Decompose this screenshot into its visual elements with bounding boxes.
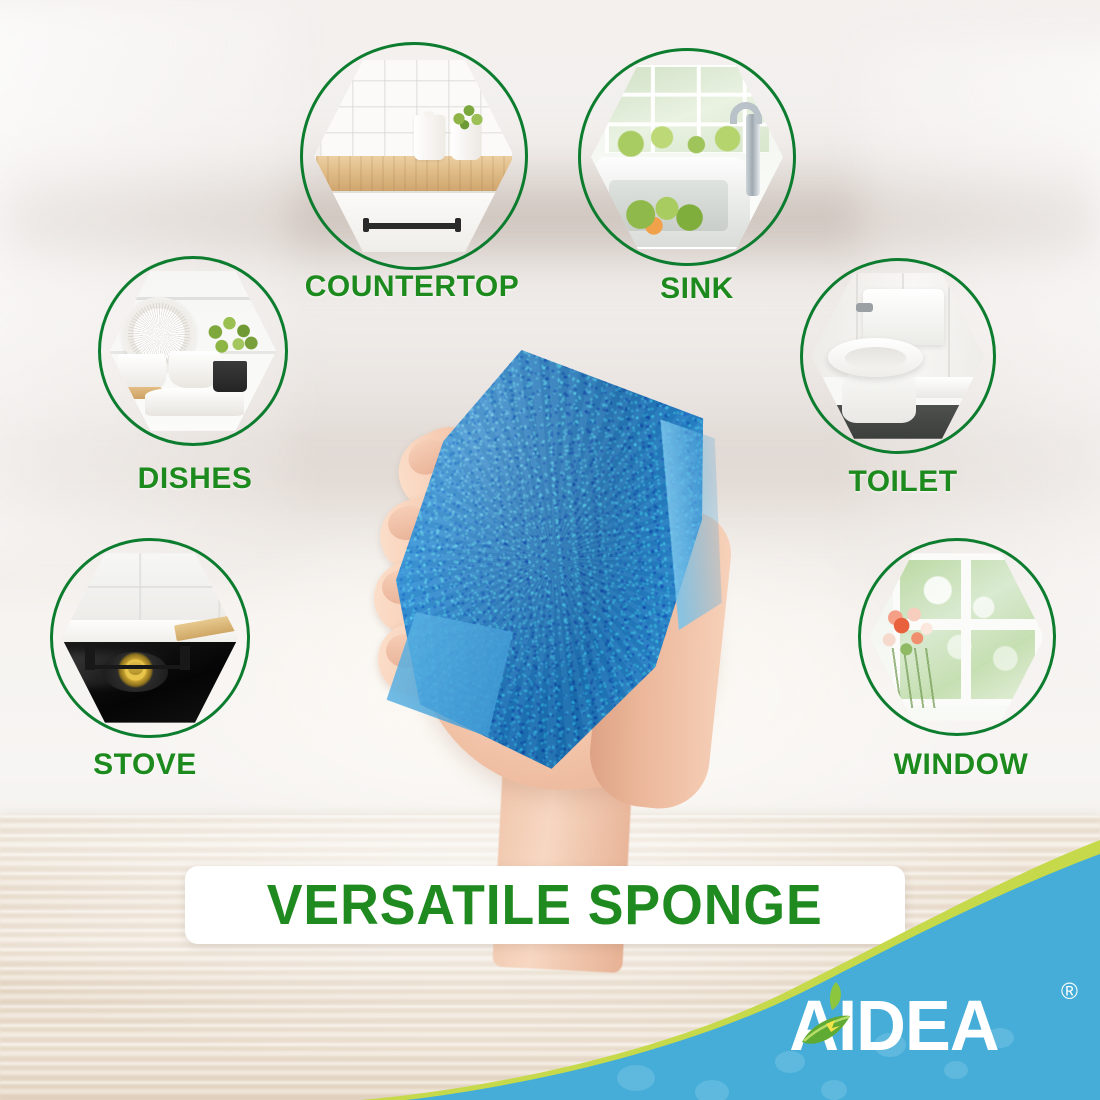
title-banner: VERSATILE SPONGE [185,866,905,944]
blue-scouring-sponge [370,334,735,781]
feature-label-toilet: TOILET [848,465,957,499]
registered-trademark-icon: ® [1061,978,1078,1005]
feature-countertop [300,42,528,270]
window-ring [858,538,1056,736]
feature-dishes [98,256,288,446]
brand-logo: AIDEA ® [786,976,1076,1068]
feature-label-countertop: COUNTERTOP [305,270,519,304]
feature-sink [578,48,796,266]
feature-window [858,538,1056,736]
product-marketing-image: COUNTERTOP SINK DISHES [0,0,1100,1100]
page-title: VERSATILE SPONGE [267,872,823,938]
countertop-ring [300,42,528,270]
feature-label-window: WINDOW [894,748,1029,782]
sink-ring [578,48,796,266]
feature-label-sink: SINK [660,272,734,306]
dishes-ring [98,256,288,446]
green-leaf-icon [792,976,884,1068]
feature-label-stove: STOVE [93,748,197,782]
toilet-ring [800,258,996,454]
feature-toilet [800,258,996,454]
feature-label-dishes: DISHES [138,462,253,496]
feature-stove [50,538,250,738]
stove-ring [50,538,250,738]
